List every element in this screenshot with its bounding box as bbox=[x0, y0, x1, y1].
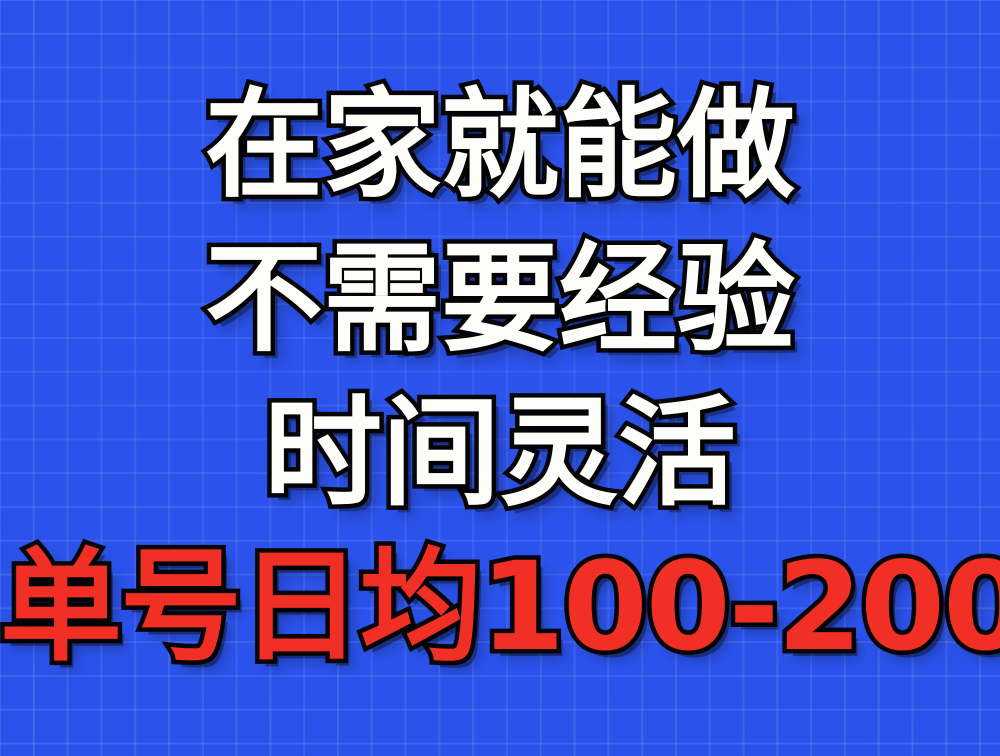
headline-line-3: 时间灵活 bbox=[0, 394, 1000, 512]
headline-earnings-line: 单号日均100-200 bbox=[0, 546, 1000, 668]
headline-line-1: 在家就能做 bbox=[0, 86, 1000, 204]
headline-block: 在家就能做 不需要经验 时间灵活 单号日均100-200 bbox=[0, 0, 1000, 756]
promotional-poster: 在家就能做 不需要经验 时间灵活 单号日均100-200 bbox=[0, 0, 1000, 756]
headline-line-2: 不需要经验 bbox=[0, 240, 1000, 358]
